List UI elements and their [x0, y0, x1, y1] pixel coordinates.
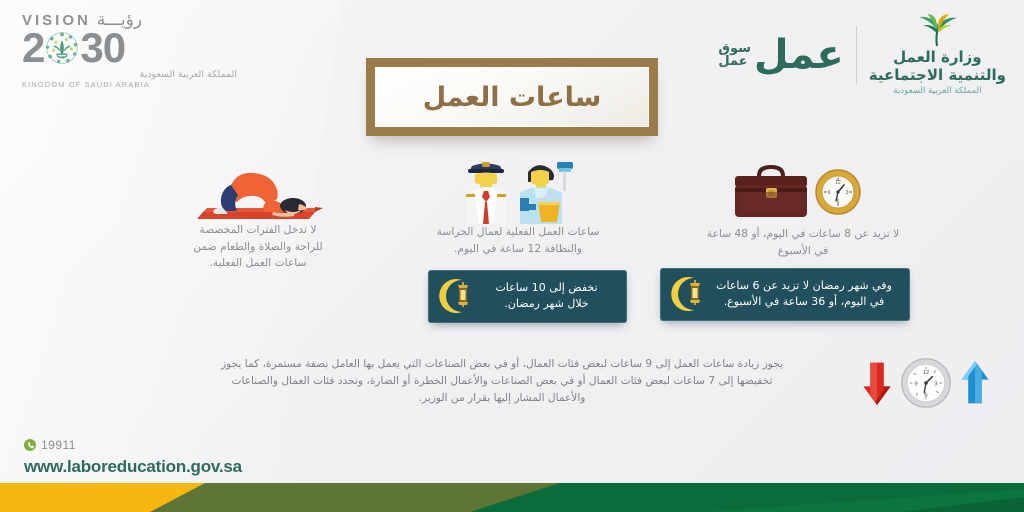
ministry-line-3: المملكة العربية السعودية: [893, 86, 981, 96]
souq-line-1: سوق: [718, 42, 751, 55]
ministry-line-1: وزارة العمل: [893, 49, 982, 66]
paragraph-line-3: والأعمال المشار إليها بقرار من الوزير.: [172, 390, 832, 407]
caption-line: لا تزيد عن 8 ساعات في اليوم، أو 48 ساعة: [678, 226, 928, 243]
svg-text:3: 3: [934, 382, 937, 388]
ramadan-badge-guard: تخفض إلى 10 ساعات خلال شهر رمضان.: [428, 270, 627, 323]
svg-text:9: 9: [915, 382, 918, 388]
badge-line: تخفض إلى 10 ساعات: [476, 280, 617, 296]
svg-text:6: 6: [837, 199, 840, 205]
svg-text:12: 12: [835, 180, 841, 186]
footer-paragraph: يجوز زيادة ساعات العمل إلى 9 ساعات لبعض …: [172, 356, 832, 407]
title-plate: ساعات العمل: [366, 58, 658, 136]
souq-wordmark: عمل: [754, 39, 844, 72]
footer-color-bar: [0, 483, 1024, 512]
souq-line-2: عمل: [718, 55, 747, 68]
blue-up-arrow-icon: [958, 358, 992, 412]
caption-line: لا تدخل الفترات المخصصة: [168, 222, 348, 239]
badge-line: وفي شهر رمضان لا تزيد عن 6 ساعات: [708, 278, 900, 294]
phone-number: 19911: [41, 438, 76, 452]
footer-contact: 19911 www.laboreducation.gov.sa: [24, 438, 242, 477]
saudi-palm-swords-icon: [45, 31, 79, 65]
caption-line: ساعات العمل الفعلية.: [168, 255, 348, 272]
svg-text:3: 3: [846, 190, 849, 196]
badge-line: خلال شهر رمضان.: [476, 296, 617, 312]
crescent-moon-lantern-icon: [664, 274, 708, 314]
column-praying: لا تدخل الفترات المخصصة للراحة والصلاة و…: [168, 160, 348, 272]
security-guard-and-cleaner-icon: [418, 158, 618, 224]
paragraph-line-2: تخفيضها إلى 7 ساعات لبعض فئات العمال أو …: [172, 373, 832, 390]
logo-divider: [856, 26, 857, 84]
infographic-page: VISION رؤيـــة 2: [0, 0, 1024, 512]
palm-tree-icon: [909, 14, 965, 48]
website-url[interactable]: www.laboreducation.gov.sa: [24, 457, 242, 477]
caption-praying: لا تدخل الفترات المخصصة للراحة والصلاة و…: [168, 222, 348, 272]
vision-year: 2: [22, 28, 237, 68]
ministry-line-2: والتنمية الاجتماعية: [869, 67, 1006, 84]
svg-text:12: 12: [923, 370, 929, 376]
caption-briefcase-clock: لا تزيد عن 8 ساعات في اليوم، أو 48 ساعة …: [678, 226, 928, 259]
phone-icon: [24, 439, 36, 451]
caption-line: للراحة والصلاة والطعام ضمن: [168, 239, 348, 256]
wall-clock-icon: 12 3 6 9: [900, 357, 952, 413]
column-briefcase-clock: 12 3 6 9 لا تزيد عن 8 ساعات في اليوم، أو…: [678, 158, 928, 259]
vision-subtitle-en: KINGDOM OF SAUDI ARABIA: [22, 80, 237, 89]
vision-2030-logo: VISION رؤيـــة 2: [22, 10, 237, 88]
praying-person-icon: [168, 160, 348, 222]
ministry-of-labor-logo: وزارة العمل والتنمية الاجتماعية المملكة …: [869, 14, 1006, 96]
badge-line: في اليوم، أو 36 ساعة في الأسبوع.: [708, 294, 900, 310]
red-down-arrow-icon: [860, 358, 894, 412]
column-guard-cleaner: ساعات العمل الفعلية لعمال الحراسة والنظا…: [418, 158, 618, 257]
souq-amal-logo: عمل سوق عمل: [718, 39, 843, 72]
page-title: ساعات العمل: [423, 82, 602, 113]
arrows-clock-group: 12 3 6 9: [812, 352, 992, 418]
svg-text:9: 9: [828, 190, 831, 196]
crescent-moon-lantern-icon: [432, 276, 476, 316]
badge-text: وفي شهر رمضان لا تزيد عن 6 ساعات في اليو…: [708, 278, 900, 310]
caption-line: والنظافة 12 ساعة في اليوم.: [418, 241, 618, 258]
vision-subtitle-ar: المملكة العربية السعودية: [22, 69, 237, 80]
ministry-logo-group: وزارة العمل والتنمية الاجتماعية المملكة …: [718, 12, 1006, 98]
badge-text: تخفض إلى 10 ساعات خلال شهر رمضان.: [476, 280, 617, 312]
svg-text:6: 6: [924, 392, 927, 398]
caption-guard-cleaner: ساعات العمل الفعلية لعمال الحراسة والنظا…: [418, 224, 618, 257]
paragraph-line-1: يجوز زيادة ساعات العمل إلى 9 ساعات لبعض …: [172, 356, 832, 373]
caption-line: ساعات العمل الفعلية لعمال الحراسة: [418, 224, 618, 241]
caption-line: في الأسبوع: [678, 243, 928, 260]
ramadan-badge-general: وفي شهر رمضان لا تزيد عن 6 ساعات في اليو…: [660, 268, 910, 321]
briefcase-and-clock-icon: 12 3 6 9: [678, 158, 928, 226]
